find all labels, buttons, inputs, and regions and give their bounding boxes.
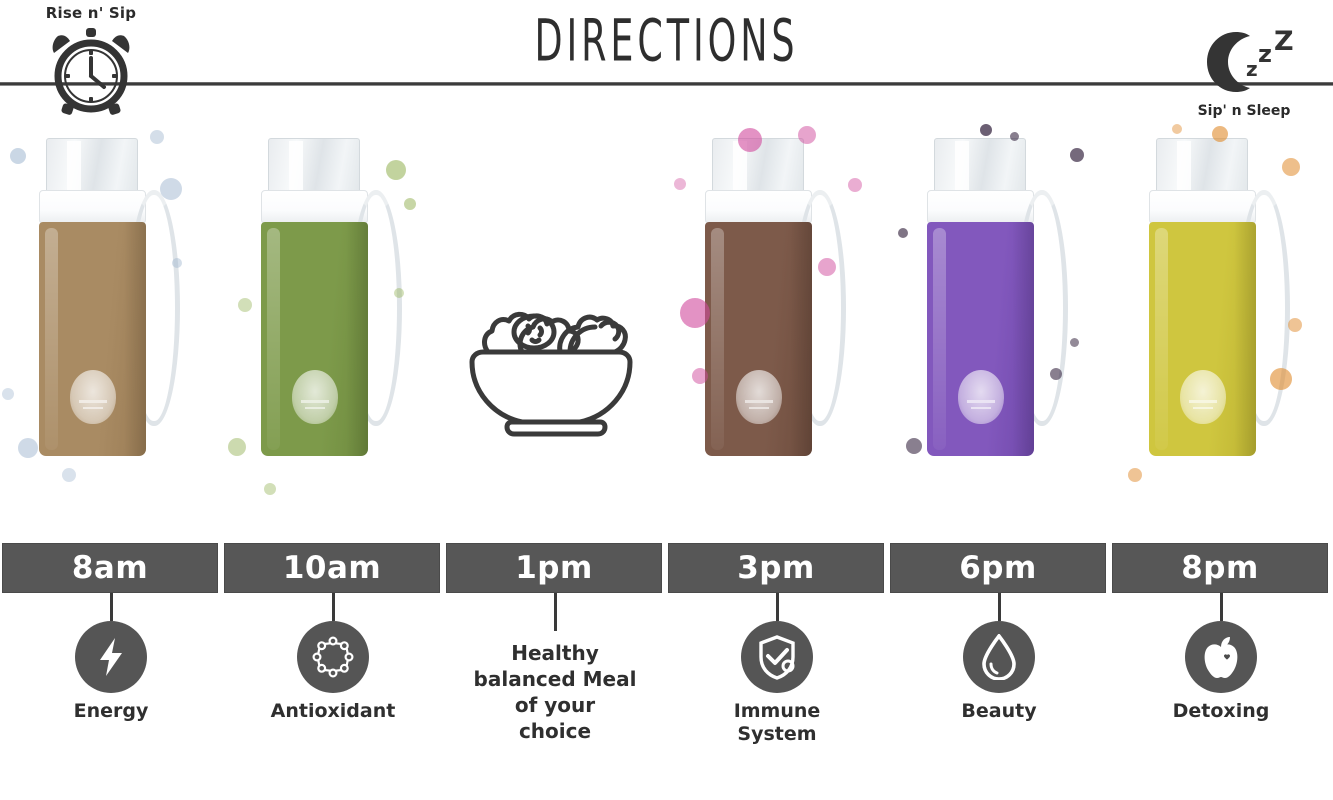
label-line: choice [444,718,666,744]
splatter-dot [238,298,252,312]
bottle-label-emblem [958,370,1004,424]
bottle-collar [261,190,368,224]
splatter-dot [906,438,922,454]
bottle-body [705,222,812,456]
splatter-dot [160,178,182,200]
timeline-time-label: 1pm [515,550,593,586]
timeline-time-label: 10am [283,550,381,586]
splatter-dot [386,160,406,180]
moon-sleep-icon: z z Z [1169,26,1319,103]
splatter-dot [848,178,862,192]
timeline-bar-3pm[interactable]: 3pm [668,543,884,593]
bottle-label-emblem [1180,370,1226,424]
splatter-dot [1212,126,1228,142]
splatter-dot [228,438,246,456]
timeline-benefit-label: Beauty [888,700,1110,723]
splatter-dot [818,258,836,276]
connector-line [554,593,557,631]
splatter-dot [692,368,708,384]
bottle-label-emblem [70,370,116,424]
connector-line [110,593,113,621]
bottle-collar [705,190,812,224]
water-drop-icon[interactable] [963,621,1035,693]
salad-bowl-cell [444,120,666,520]
timeline-bar-1pm[interactable]: 1pm [446,543,662,593]
bottle-cap [1156,138,1248,196]
bottle-collar [39,190,146,224]
label-line: Detoxing [1110,700,1332,723]
label-line: System [666,723,888,746]
connector-line [998,593,1001,621]
splatter-dot [150,130,164,144]
label-line: Beauty [888,700,1110,723]
timeline-bar-8pm[interactable]: 8pm [1112,543,1328,593]
bottle-2 [254,138,376,458]
splatter-dot [1128,468,1142,482]
splatter-dot [10,148,26,164]
header-divider [0,82,1333,86]
timeline-time-label: 3pm [737,550,815,586]
sip-n-sleep-label: Sip' n Sleep [1169,103,1319,119]
bottle-3-cell [666,120,888,520]
splatter-dot [1282,158,1300,176]
timeline-bar-10am[interactable]: 10am [224,543,440,593]
splatter-dot [18,438,38,458]
splatter-dot [1288,318,1302,332]
timeline-bar-6pm[interactable]: 6pm [890,543,1106,593]
sip-n-sleep-badge: z z Z Sip' n Sleep [1169,26,1319,119]
bottle-cap [46,138,138,196]
bottle-4-cell [888,120,1110,520]
bottle-body [39,222,146,456]
splatter-dot [1050,368,1062,380]
svg-text:z: z [1246,57,1258,81]
timeline-benefit-label: ImmuneSystem [666,700,888,746]
bottle-label-emblem [736,370,782,424]
bottle-row [0,120,1333,520]
splatter-dot [62,468,76,482]
timeline-bar-row: 8am10am1pm3pm6pm8pm [0,543,1333,595]
splatter-dot [674,178,686,190]
timeline-benefit-label: Antioxidant [222,700,444,723]
label-line: balanced Meal [444,666,666,692]
salad-bowl-icon [462,270,650,445]
bottle-3 [698,138,820,458]
bottle-body [1149,222,1256,456]
molecule-ring-icon[interactable] [297,621,369,693]
infographic-root: DIRECTIONS Rise n' Sip [0,0,1333,800]
bottle-cap [268,138,360,196]
splatter-dot [404,198,416,210]
label-line: of your [444,692,666,718]
bottle-body [261,222,368,456]
splatter-dot [1070,338,1079,347]
bottle-5 [1142,138,1264,458]
label-line: Immune [666,700,888,723]
splatter-dot [738,128,762,152]
connector-line [332,593,335,621]
bottle-1 [32,138,154,458]
splatter-dot [1010,132,1019,141]
alarm-clock-icon [16,20,166,121]
svg-text:Z: Z [1274,26,1294,57]
label-line: Healthy [444,640,666,666]
bottle-body [927,222,1034,456]
splatter-dot [980,124,992,136]
splatter-dot [798,126,816,144]
splatter-dot [1070,148,1084,162]
timeline-benefit-label: Energy [0,700,222,723]
bottle-collar [927,190,1034,224]
bottle-cap [934,138,1026,196]
page-title-text: DIRECTIONS [535,8,799,75]
timeline-time-label: 8am [72,550,148,586]
timeline-benefit-label: Detoxing [1110,700,1332,723]
timeline-time-label: 6pm [959,550,1037,586]
splatter-dot [680,298,710,328]
splatter-dot [172,258,182,268]
bottle-1-cell [0,120,222,520]
lightning-bolt-icon[interactable] [75,621,147,693]
label-line: Energy [0,700,222,723]
bottle-5-cell [1110,120,1332,520]
splatter-dot [2,388,14,400]
bottle-collar [1149,190,1256,224]
splatter-dot [1270,368,1292,390]
bottle-2-cell [222,120,444,520]
bottle-4 [920,138,1042,458]
bottle-label-emblem [292,370,338,424]
svg-text:z: z [1258,40,1272,68]
connector-line [776,593,779,621]
timeline-bar-8am[interactable]: 8am [2,543,218,593]
splatter-dot [898,228,908,238]
rise-n-sip-badge: Rise n' Sip [16,4,166,121]
timeline-benefit-label: Healthybalanced Mealof yourchoice [444,640,666,744]
splatter-dot [394,288,404,298]
splatter-dot [1172,124,1182,134]
splatter-dot [264,483,276,495]
timeline-time-label: 8pm [1181,550,1259,586]
shield-check-icon[interactable] [741,621,813,693]
page-title: DIRECTIONS [147,8,1187,75]
label-line: Antioxidant [222,700,444,723]
apple-heart-icon[interactable] [1185,621,1257,693]
connector-line [1220,593,1223,621]
